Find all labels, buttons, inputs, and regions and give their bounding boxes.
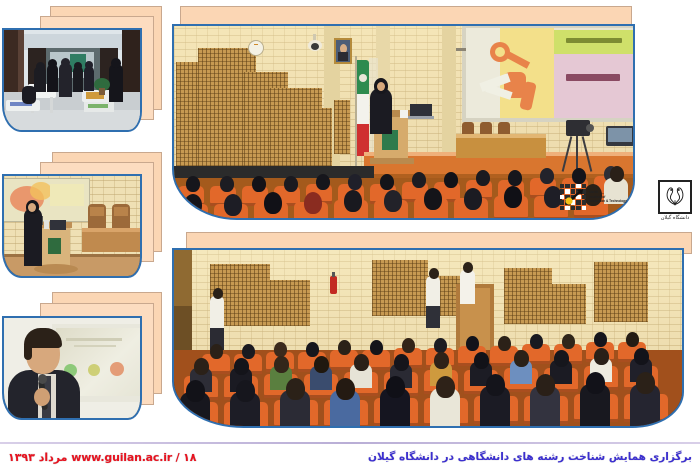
footer-headline: برگزاری همایش شناخت رشته های دانشگاهی در… [368, 451, 692, 463]
photo-card-registration-desk[interactable] [2, 6, 164, 138]
photo-card-auditorium-audience[interactable] [172, 232, 692, 432]
photo-auditorium-audience[interactable] [172, 248, 684, 428]
footer-website-and-date[interactable]: www.guilan.ac.ir / ۱۸ مرداد ۱۳۹۳ [8, 451, 197, 464]
poster-page: Marlik Institute of Innovation & Technol… [0, 0, 700, 467]
photo-card-male-speaker-microphone[interactable] [2, 292, 164, 426]
photo-registration-desk[interactable] [2, 28, 142, 132]
photo-female-speaker-podium[interactable] [2, 174, 142, 278]
guilan-emblem-icon [658, 180, 692, 214]
footer-bar: www.guilan.ac.ir / ۱۸ مرداد ۱۳۹۳ برگزاری… [0, 448, 700, 466]
footer-divider [0, 442, 700, 444]
marlik-grid-icon [560, 184, 586, 210]
photo-male-speaker-microphone[interactable] [2, 316, 142, 420]
marlik-line-3: Innovation & Technology [589, 199, 627, 204]
university-of-guilan-logo[interactable]: دانشگاه گیلان [654, 180, 696, 221]
marlik-logo-text: Marlik Institute of Innovation & Technol… [589, 190, 627, 204]
photo-card-female-speaker-podium[interactable] [2, 152, 164, 284]
marlik-institute-logo[interactable]: Marlik Institute of Innovation & Technol… [560, 184, 627, 210]
guilan-logo-caption: دانشگاه گیلان [654, 215, 696, 221]
logo-row: Marlik Institute of Innovation & Technol… [558, 180, 698, 226]
